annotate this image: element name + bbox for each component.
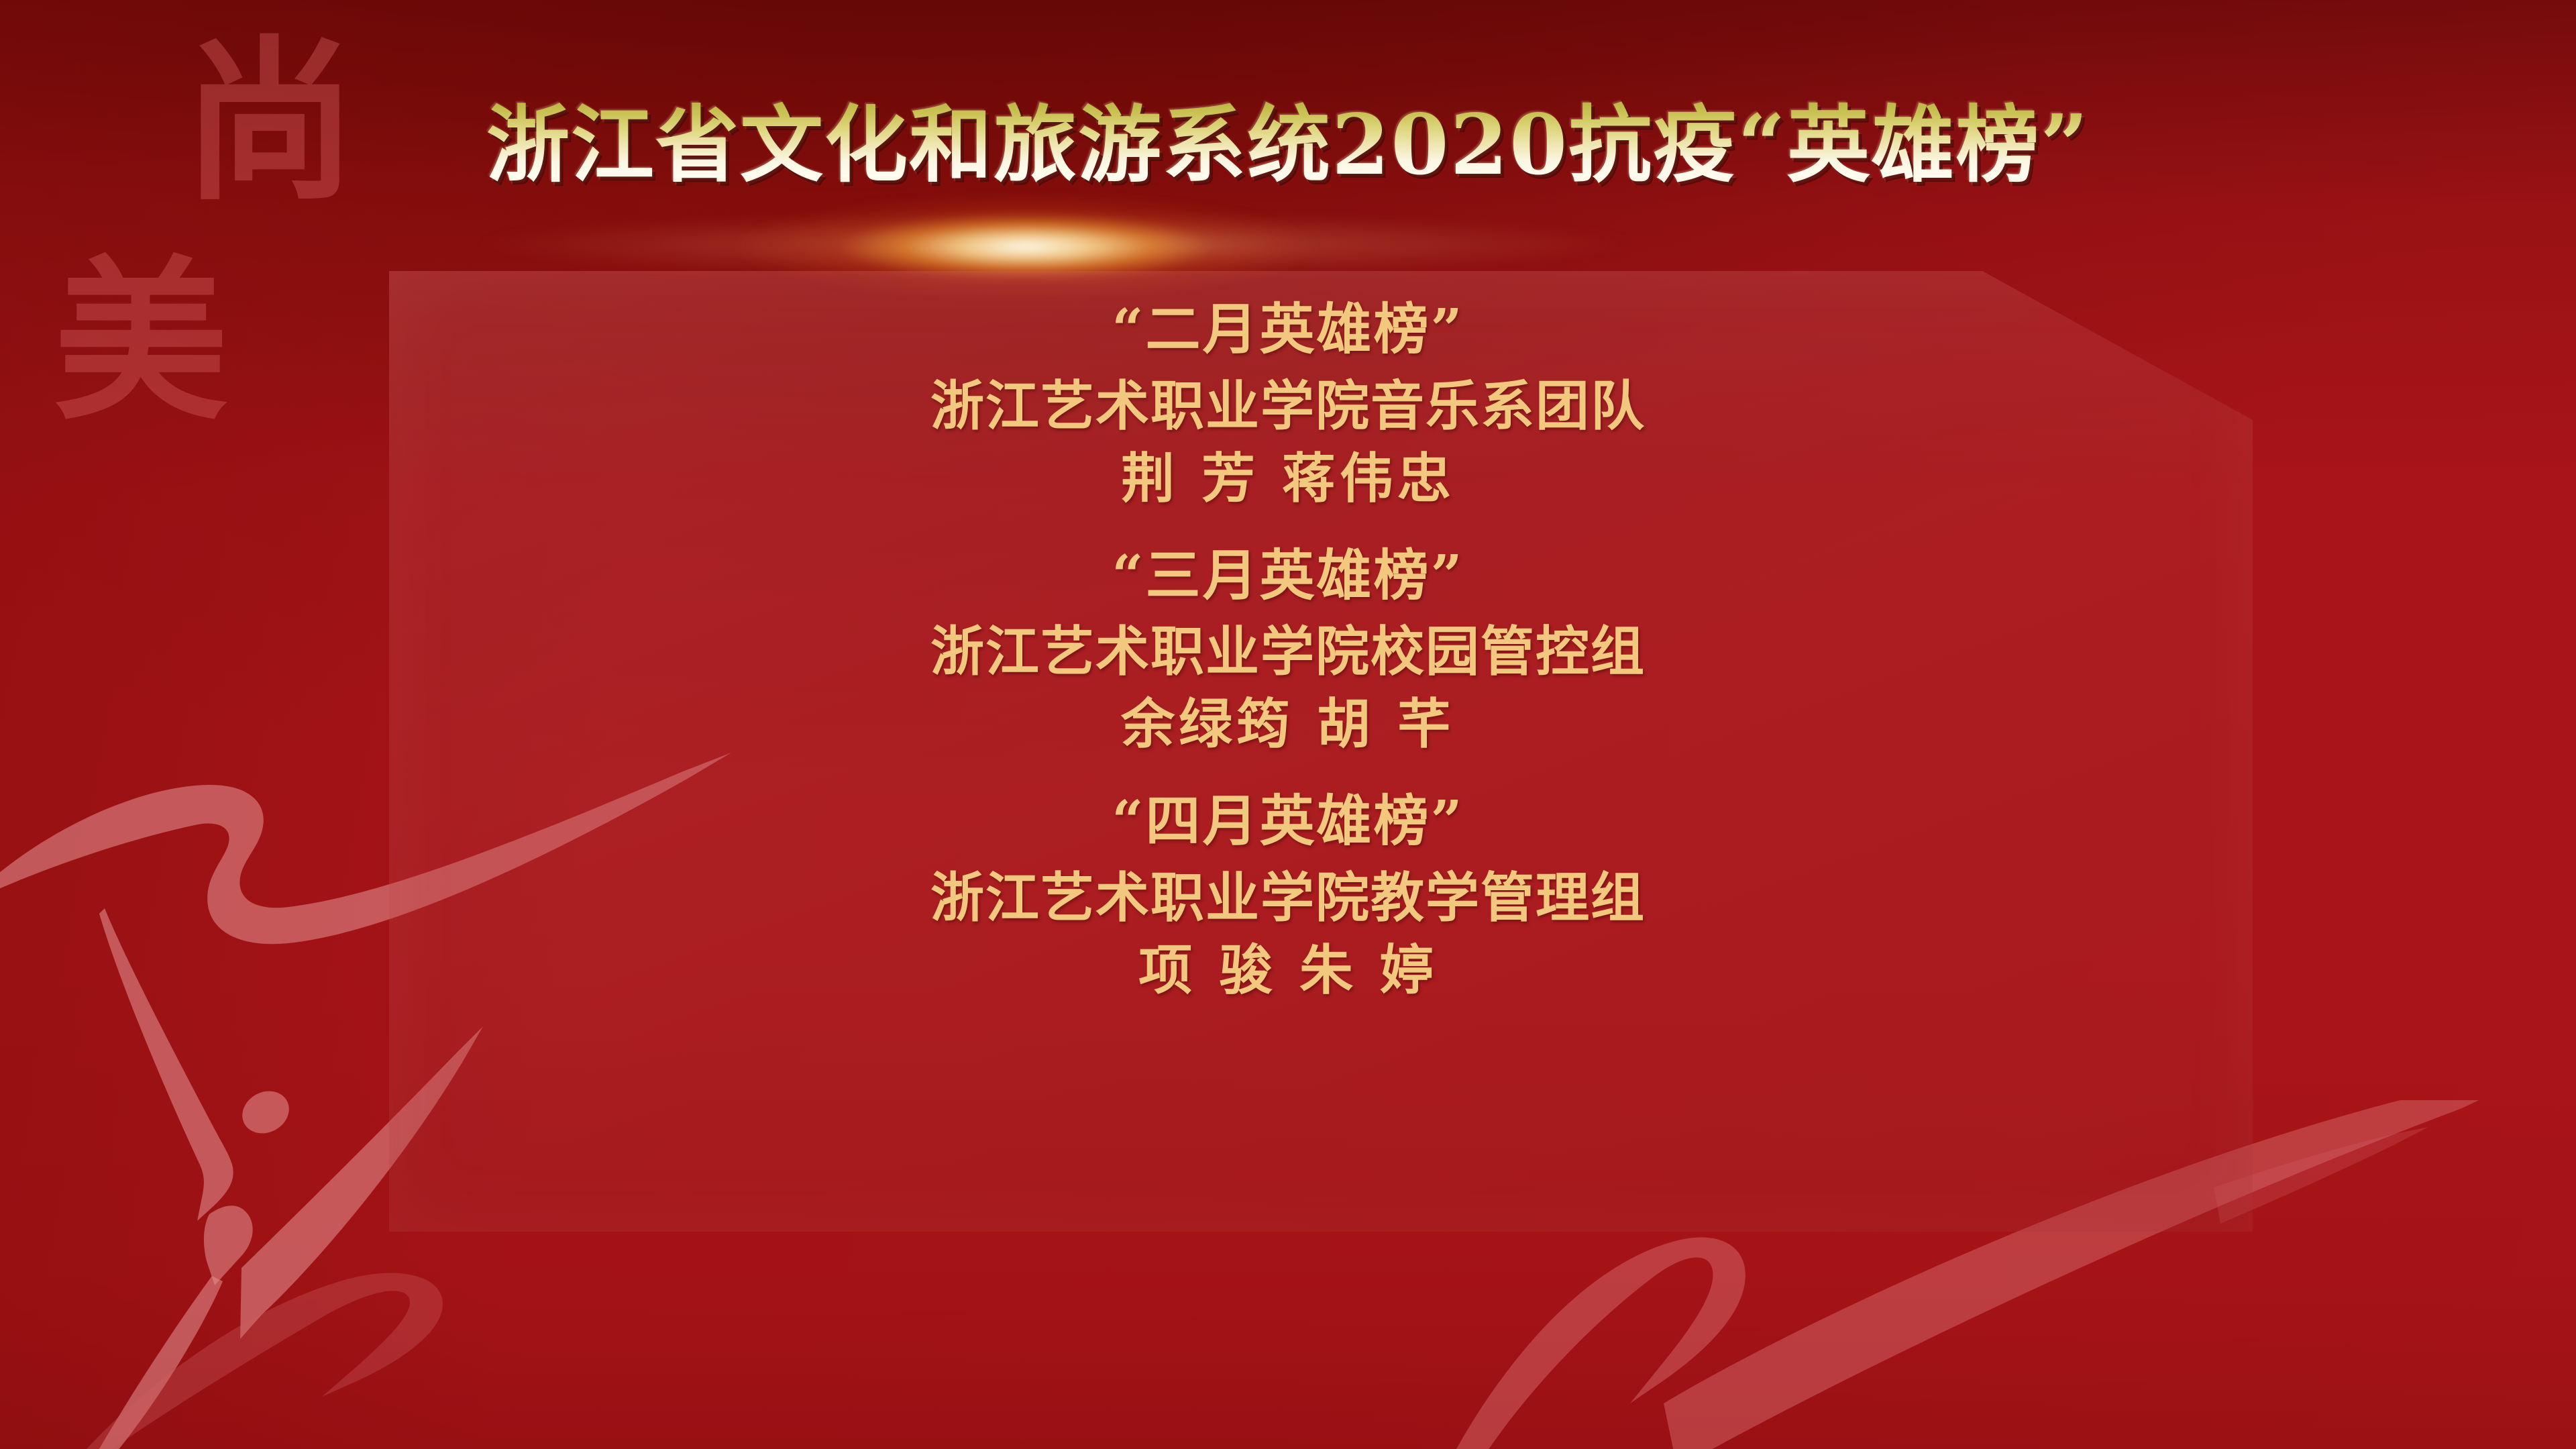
award-month-label: “二月英雄榜” [0,294,2576,366]
award-block-february: “二月英雄榜” 浙江艺术职业学院音乐系团队 荆 芳 蒋伟忠 [0,294,2576,513]
award-organization: 浙江艺术职业学院教学管理组 [0,863,2576,932]
award-names: 余绿筠 胡 芊 [0,689,2576,759]
award-block-march: “三月英雄榜” 浙江艺术职业学院校园管控组 余绿筠 胡 芊 [0,540,2576,759]
slide-root: 尚 美 浙江省文化和旅游系统2020抗疫“英雄榜” [0,0,2576,1449]
award-list: “二月英雄榜” 浙江艺术职业学院音乐系团队 荆 芳 蒋伟忠 “三月英雄榜” 浙江… [0,271,2576,1232]
award-block-april: “四月英雄榜” 浙江艺术职业学院教学管理组 项 骏 朱 婷 [0,786,2576,1005]
award-names: 项 骏 朱 婷 [0,935,2576,1005]
award-organization: 浙江艺术职业学院校园管控组 [0,616,2576,686]
award-organization: 浙江艺术职业学院音乐系团队 [0,371,2576,441]
award-month-label: “三月英雄榜” [0,540,2576,612]
award-names: 荆 芳 蒋伟忠 [0,443,2576,513]
award-month-label: “四月英雄榜” [0,786,2576,857]
page-title: 浙江省文化和旅游系统2020抗疫“英雄榜” [0,99,2576,193]
